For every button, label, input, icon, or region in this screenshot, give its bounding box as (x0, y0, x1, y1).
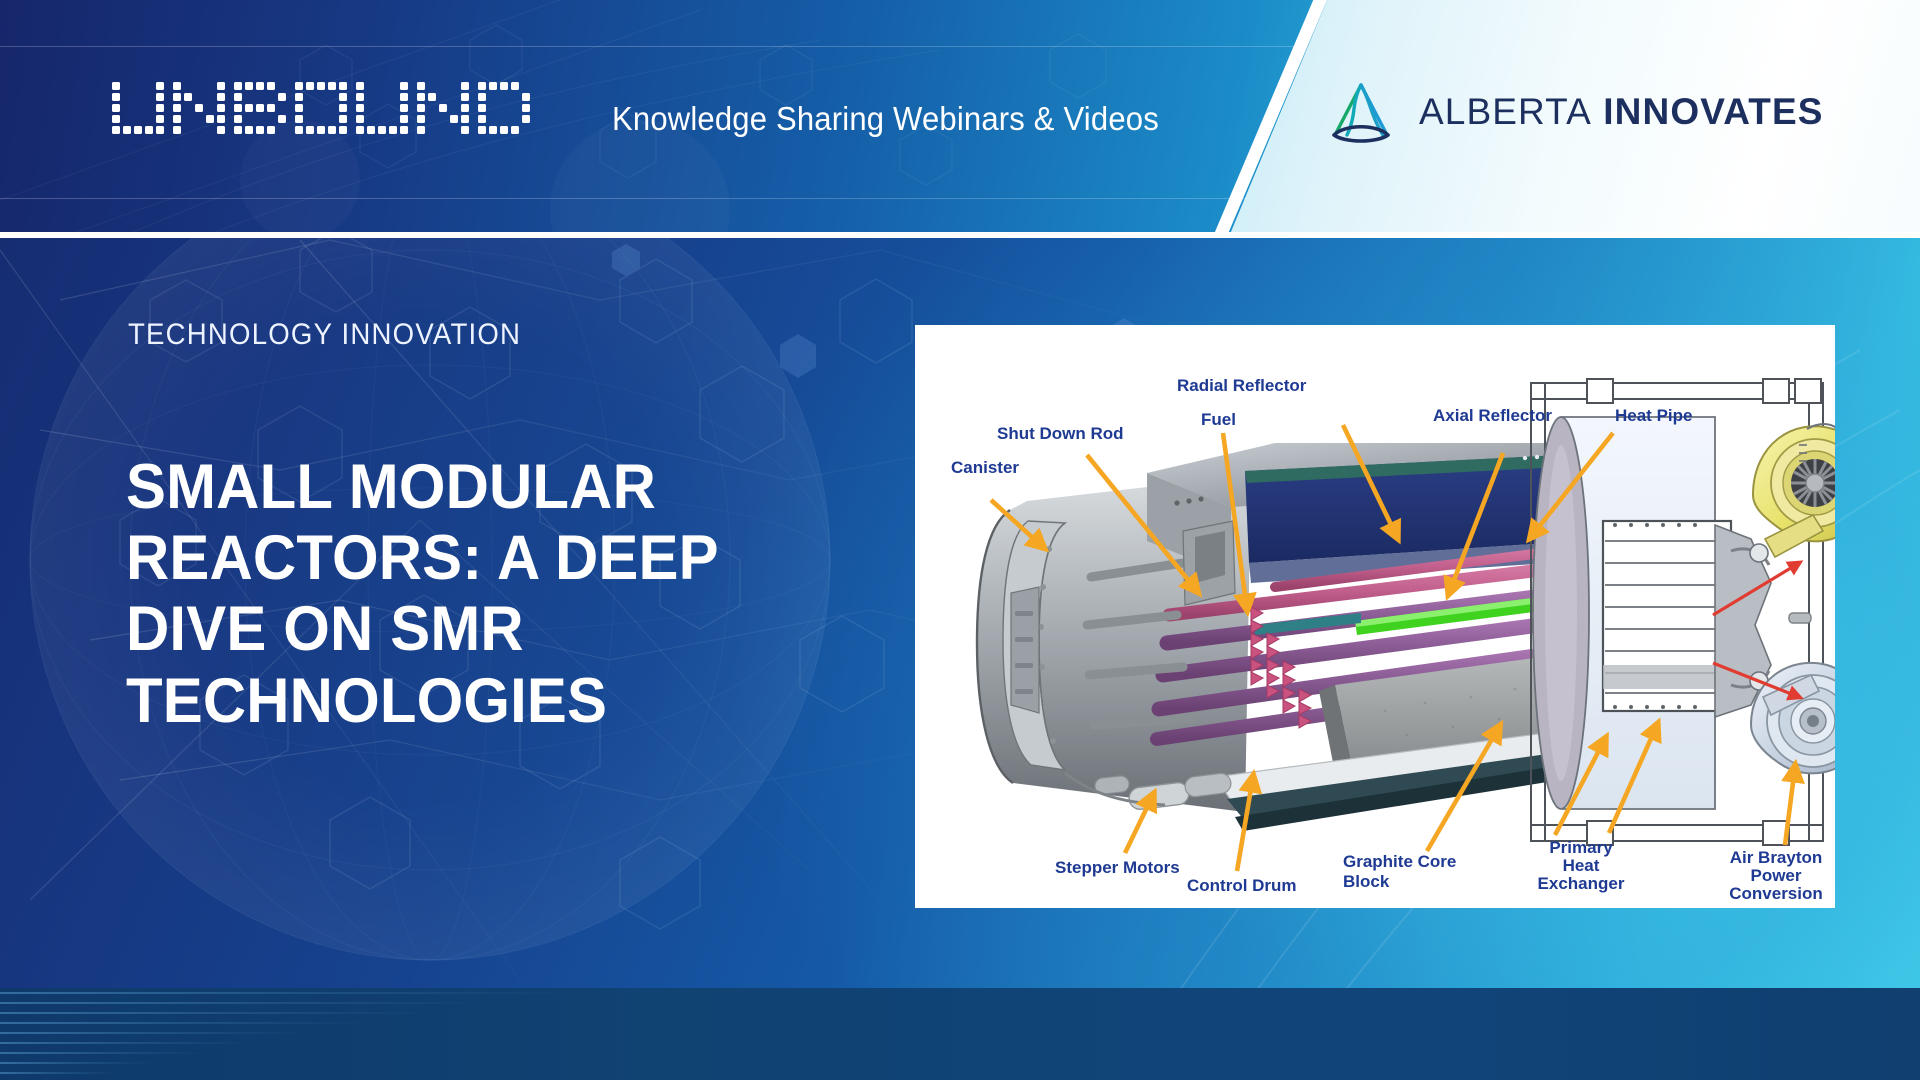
svg-text:Power: Power (1750, 866, 1801, 885)
label-shut-down-rod: Shut Down Rod (997, 424, 1124, 443)
unbound-letter-u (112, 82, 164, 134)
unbound-letter-n (173, 82, 225, 134)
svg-text:Block: Block (1343, 872, 1390, 891)
label-fuel: Fuel (1201, 410, 1236, 429)
figure-card[interactable]: Canister Shut Down Rod Fuel Radial Refle… (915, 325, 1835, 908)
org-name-bold: INNOVATES (1603, 91, 1823, 132)
svg-text:Air Brayton: Air Brayton (1730, 848, 1823, 867)
alberta-innovates-wordmark: ALBERTA INNOVATES (1419, 93, 1824, 130)
header-bottom-rule (0, 232, 1920, 238)
unbound-letter-n2 (417, 82, 469, 134)
alberta-innovates-triangle-mark (1325, 78, 1397, 144)
unbound-letter-d (478, 82, 530, 134)
page-title: SMALL MODULAR REACTORS: A DEEP DIVE ON S… (126, 452, 772, 737)
svg-text:Heat: Heat (1563, 856, 1600, 875)
footer-stripe-pattern (0, 988, 1920, 1080)
presentation-slide: Knowledge Sharing Webinars & Videos ALBE… (0, 0, 1920, 1080)
label-radial-reflector: Radial Reflector (1177, 376, 1307, 395)
alberta-innovates-logo[interactable]: ALBERTA INNOVATES (1325, 78, 1824, 144)
eyebrow-label: TECHNOLOGY INNOVATION (128, 318, 521, 352)
smr-reactor-diagram: Canister Shut Down Rod Fuel Radial Refle… (915, 325, 1835, 908)
unbound-letter-o (295, 82, 347, 134)
label-canister: Canister (951, 458, 1019, 477)
slide-header: Knowledge Sharing Webinars & Videos ALBE… (0, 0, 1920, 238)
svg-text:Graphite Core: Graphite Core (1343, 852, 1456, 871)
header-tagline: Knowledge Sharing Webinars & Videos (612, 100, 1159, 138)
unbound-letter-b (234, 82, 286, 134)
unbound-logo[interactable] (112, 82, 530, 134)
label-axial-reflector: Axial Reflector (1433, 406, 1552, 425)
label-heat-pipe: Heat Pipe (1615, 406, 1692, 425)
svg-text:Conversion: Conversion (1729, 884, 1823, 903)
svg-text:Primary: Primary (1549, 838, 1613, 857)
svg-text:Exchanger: Exchanger (1538, 874, 1625, 893)
unbound-letter-u2 (356, 82, 408, 134)
label-stepper-motors: Stepper Motors (1055, 858, 1180, 877)
label-control-drum: Control Drum (1187, 876, 1297, 895)
slide-footer-band (0, 988, 1920, 1080)
org-name-light: ALBERTA (1419, 91, 1592, 132)
